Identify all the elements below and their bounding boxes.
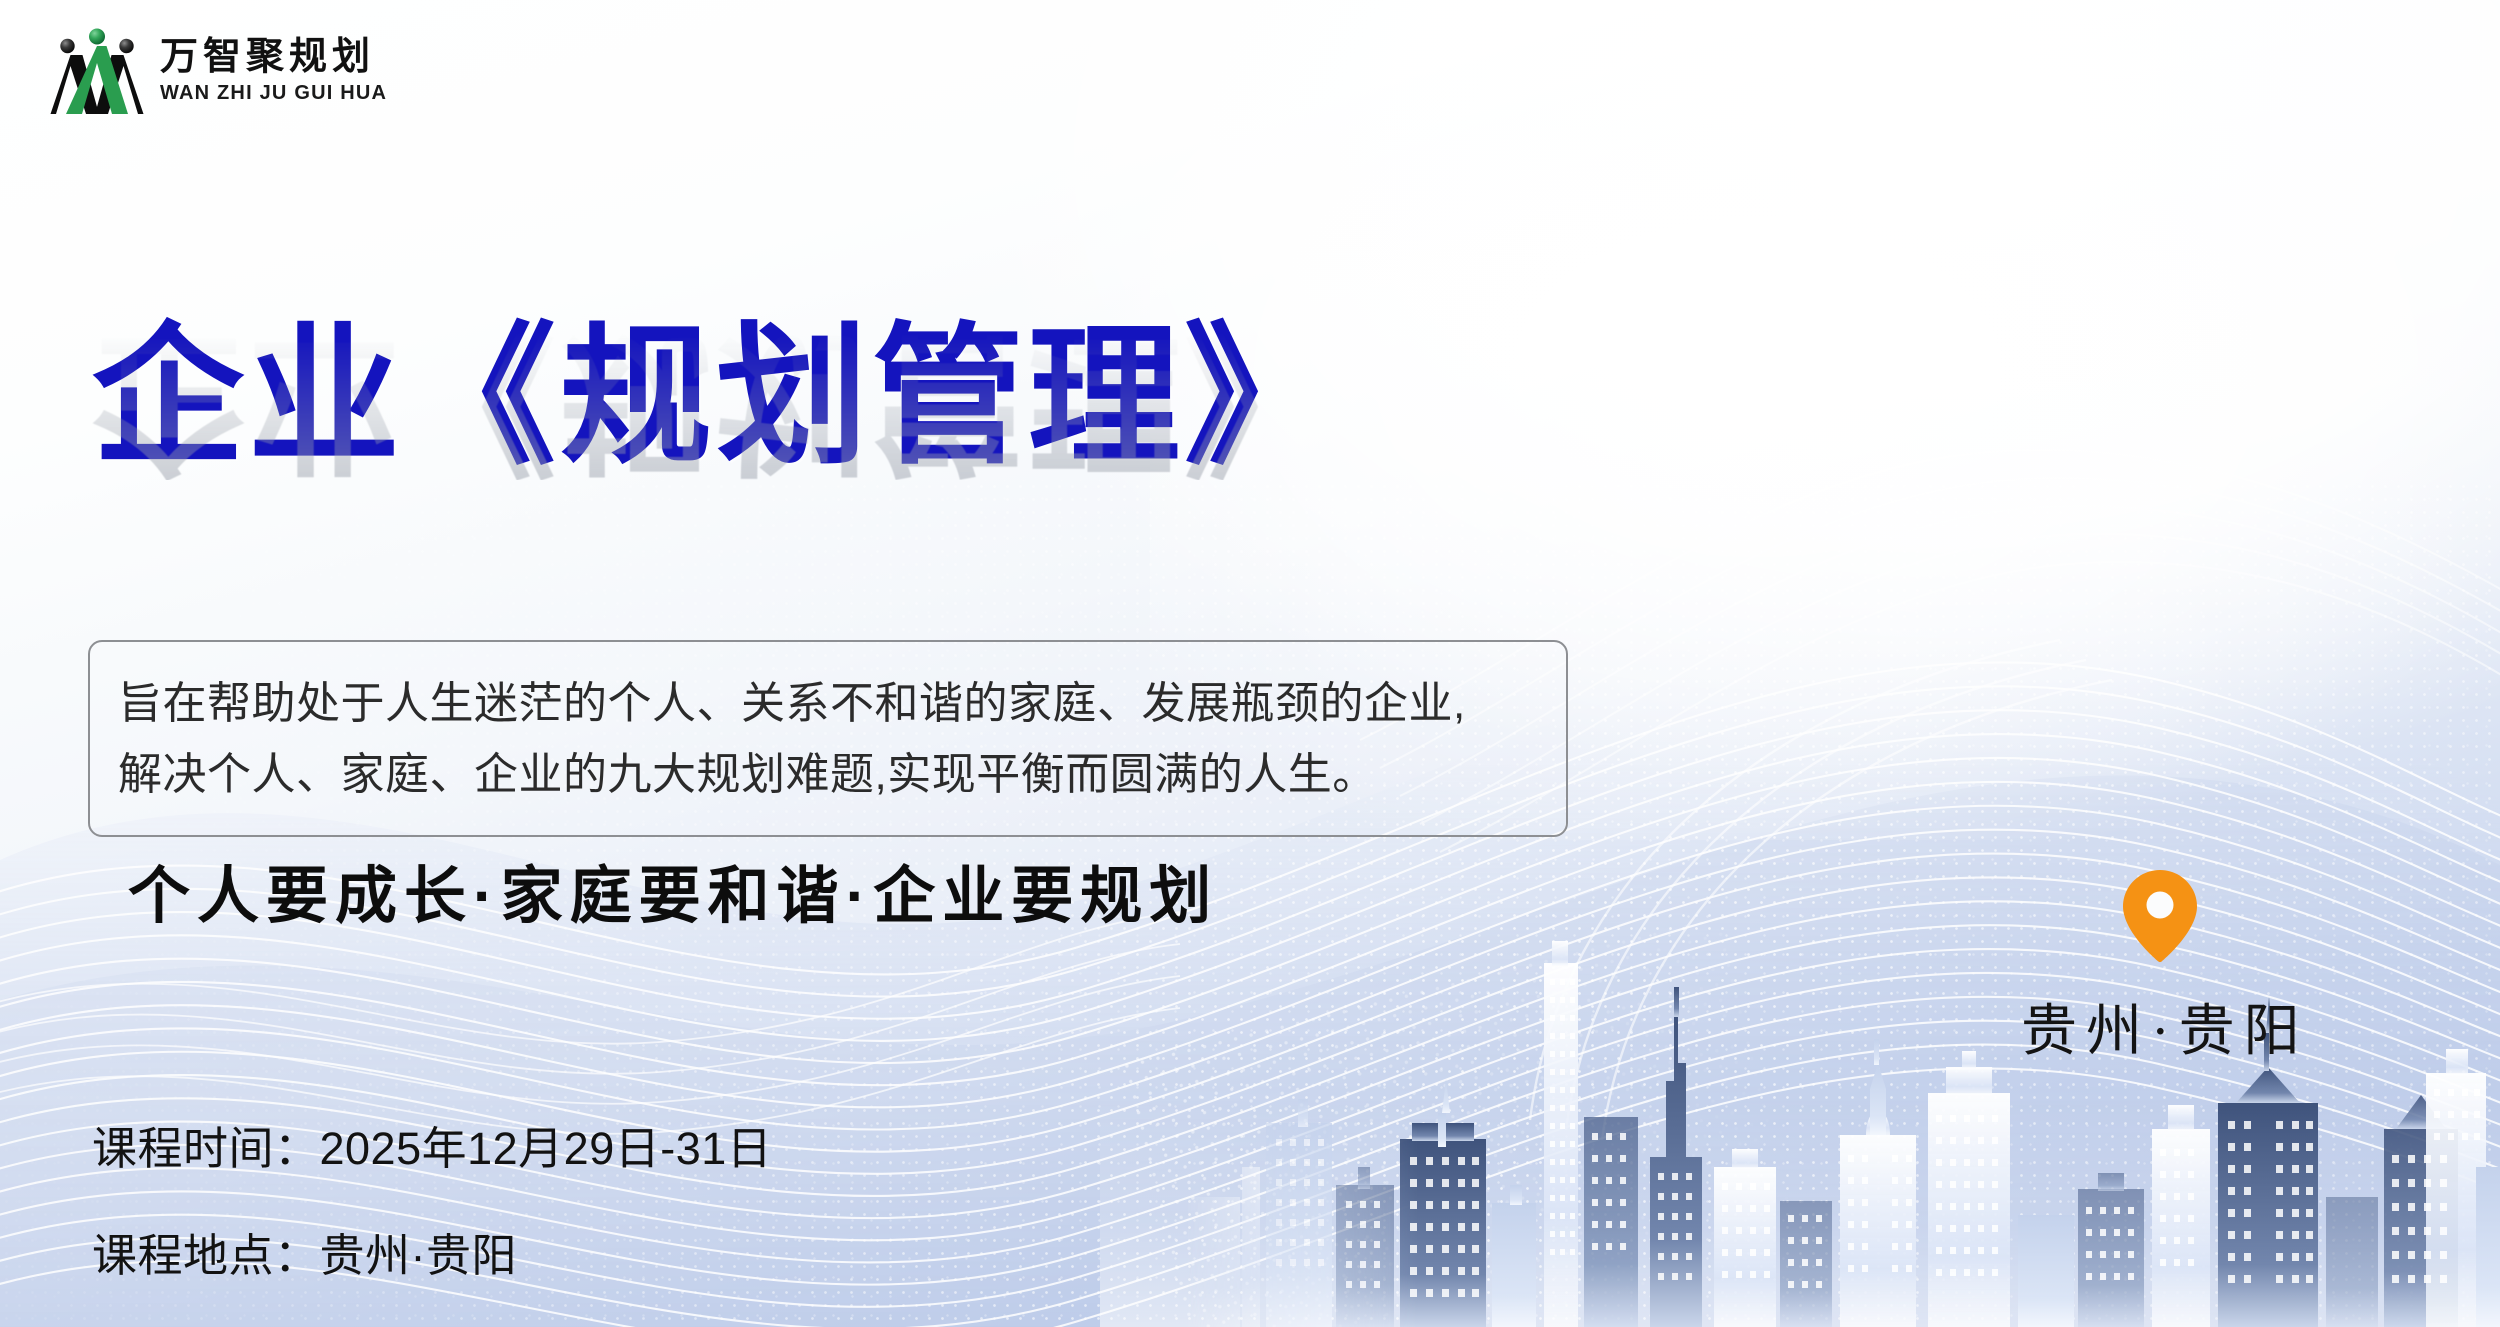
poster-canvas: 万智聚规划 WAN ZHI JU GUI HUA 企业《规划管理》 企业《规划管… xyxy=(0,0,2500,1327)
description-box: 旨在帮助处于人生迷茫的个人、关系不和谐的家庭、发展瓶颈的企业, 解决个人、家庭、… xyxy=(88,640,1568,837)
slogan-text: 个人要成长·家庭要和谐·企业要规划 xyxy=(128,845,1218,935)
three-people-m-logo-icon xyxy=(48,22,146,114)
description-line-1: 旨在帮助处于人生迷茫的个人、关系不和谐的家庭、发展瓶颈的企业, xyxy=(118,668,1538,739)
course-time: 课程时间：2025年12月29日-31日 xyxy=(92,1112,772,1177)
hero-title-block: 企业《规划管理》 企业《规划管理》 xyxy=(92,318,1652,638)
brand-wordmark: 万智聚规划 WAN ZHI JU GUI HUA xyxy=(160,34,387,103)
location-label: 贵州·贵阳 xyxy=(2012,986,2309,1067)
page-title-reflection: 企业《规划管理》 xyxy=(92,322,1652,480)
course-location: 课程地点：贵州·贵阳 xyxy=(92,1219,772,1284)
map-pin-icon xyxy=(2118,868,2202,964)
brand-name-pinyin: WAN ZHI JU GUI HUA xyxy=(160,83,387,103)
brand-name-cn: 万智聚规划 xyxy=(160,38,387,76)
brand-logo[interactable]: 万智聚规划 WAN ZHI JU GUI HUA xyxy=(48,22,387,114)
description-line-2: 解决个人、家庭、企业的九大规划难题,实现平衡而圆满的人生。 xyxy=(118,739,1538,810)
location-badge: 贵州·贵阳 xyxy=(2012,868,2309,1067)
course-info-block: 课程时间：2025年12月29日-31日 课程地点：贵州·贵阳 xyxy=(92,1112,772,1284)
